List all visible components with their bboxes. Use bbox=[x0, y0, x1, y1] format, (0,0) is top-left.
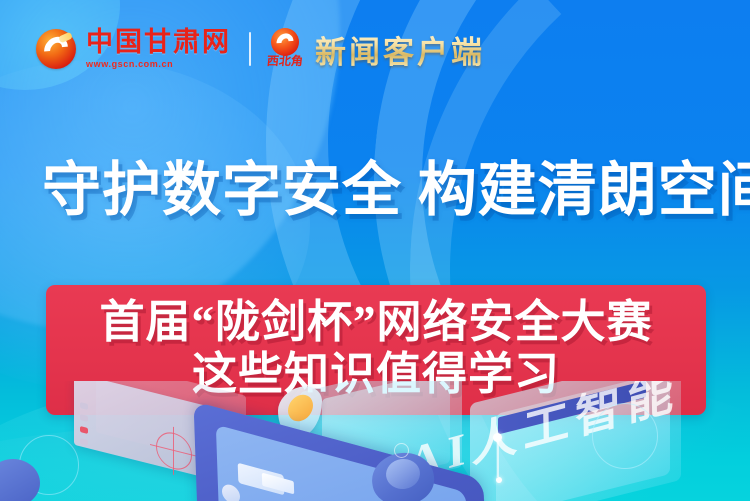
poster-canvas: 中国甘肃网 www.gscn.com.cn 西北角 新闻客户端 守护数字安全 构… bbox=[0, 0, 750, 501]
page-title: 守护数字安全 构建清朗空间 bbox=[42, 160, 722, 222]
monitor-dot bbox=[80, 438, 88, 446]
banner-line-1: 首届“陇剑杯”网络安全大赛 bbox=[99, 297, 652, 347]
secondary-logo-text: 西北角 bbox=[264, 52, 306, 69]
bubble-ring-icon bbox=[592, 403, 658, 469]
monitor-dot-active bbox=[80, 426, 88, 434]
monitor-indicator-dots bbox=[80, 402, 88, 452]
network-node-icon bbox=[496, 477, 502, 483]
monitor-dot bbox=[80, 414, 88, 422]
monitor-dot bbox=[80, 402, 88, 410]
xibeijiao-swirl-logo-icon: 西北角 bbox=[267, 28, 303, 70]
bottom-illustration: AI人工智能 bbox=[0, 381, 750, 501]
small-ring-icon bbox=[394, 443, 409, 458]
vertical-divider-icon bbox=[249, 32, 251, 66]
site-wordmark: 中国甘肃网 www.gscn.com.cn bbox=[86, 29, 231, 69]
primary-logo-group[interactable]: 中国甘肃网 www.gscn.com.cn bbox=[36, 29, 231, 69]
app-name: 新闻客户端 bbox=[315, 27, 485, 72]
header-logo-bar: 中国甘肃网 www.gscn.com.cn 西北角 新闻客户端 bbox=[0, 0, 750, 98]
network-node-icon bbox=[493, 433, 502, 442]
site-url: www.gscn.com.cn bbox=[86, 59, 231, 69]
gansu-swirl-logo-icon bbox=[36, 29, 76, 69]
secondary-logo-group[interactable]: 西北角 新闻客户端 bbox=[267, 27, 485, 72]
node-connector-line bbox=[497, 441, 499, 477]
site-name: 中国甘肃网 bbox=[86, 29, 231, 57]
